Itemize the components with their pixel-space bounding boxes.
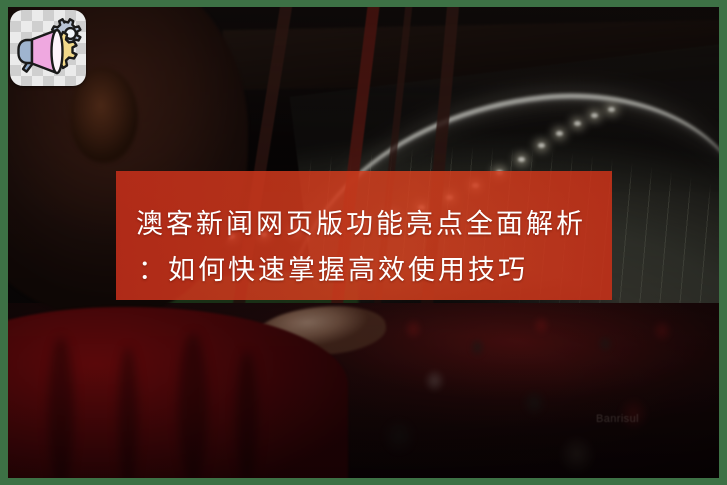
- megaphone-gear-glyph: [10, 10, 86, 86]
- floodlight-lamp: [518, 157, 525, 162]
- shirt-fold: [48, 337, 74, 478]
- floodlight-lamp: [608, 107, 615, 112]
- background-photo: Banrisul anrisul 澳客新闻网页版功能亮点全面解析 ：如何快速掌握…: [8, 7, 719, 478]
- title-line-1: 澳客新闻网页版功能亮点全面解析: [136, 204, 592, 244]
- megaphone-gear-icon[interactable]: [10, 10, 86, 86]
- floodlight-lamp: [574, 121, 581, 126]
- floodlight-lamp: [556, 131, 563, 136]
- jersey-sponsor-text-right: Banrisul: [596, 413, 639, 425]
- screenshot-frame: Banrisul anrisul 澳客新闻网页版功能亮点全面解析 ：如何快速掌握…: [0, 0, 727, 485]
- floodlight-lamp: [538, 143, 545, 148]
- shirt-fold: [236, 351, 258, 478]
- shirt-fold: [178, 333, 208, 478]
- shirt-fold: [118, 347, 138, 478]
- title-banner: 澳客新闻网页版功能亮点全面解析 ：如何快速掌握高效使用技巧: [116, 171, 612, 300]
- floodlight-lamp: [591, 113, 598, 118]
- title-line-2: ：如何快速掌握高效使用技巧: [136, 250, 592, 290]
